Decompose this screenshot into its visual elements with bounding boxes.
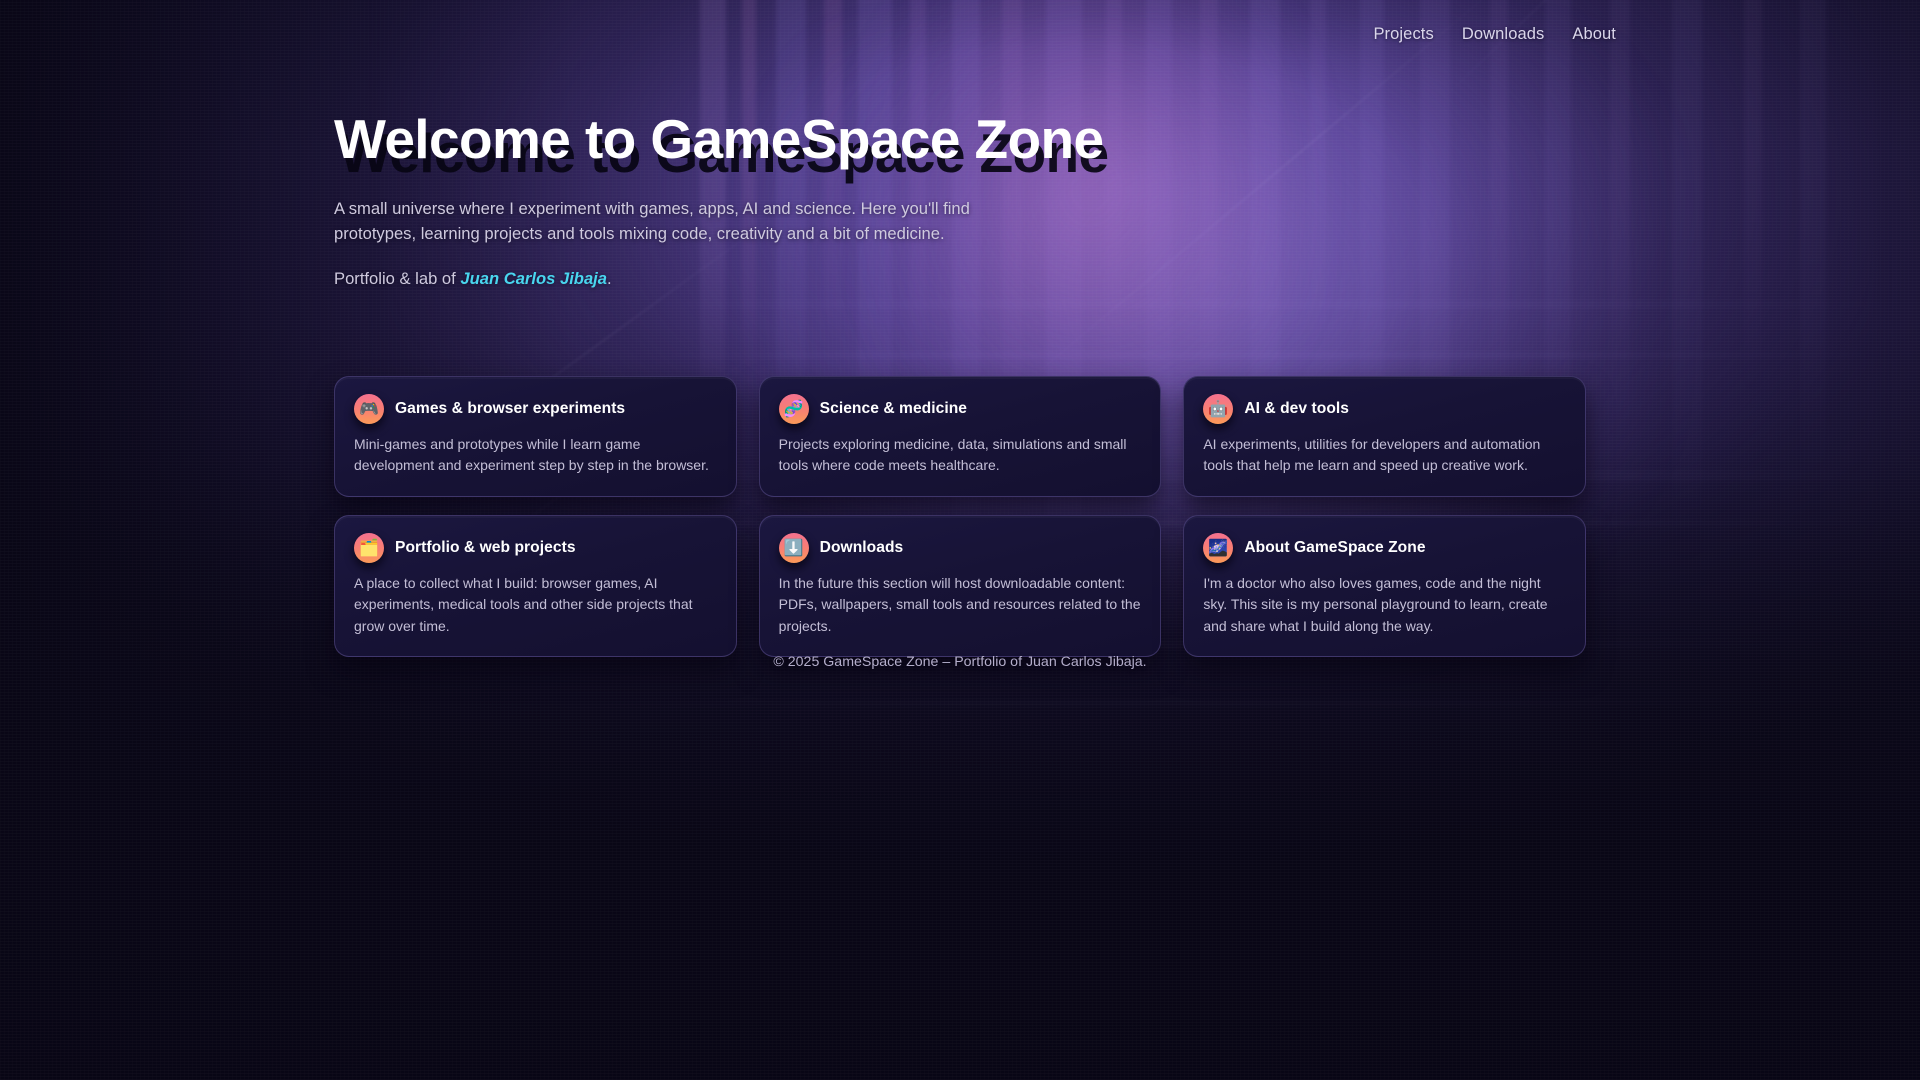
- footer-copyright: © 2025 GameSpace Zone – Portfolio of Jua…: [773, 654, 1146, 670]
- card-title: About GameSpace Zone: [1244, 539, 1425, 557]
- card-description: A place to collect what I build: browser…: [354, 573, 717, 637]
- card-index-dividers-icon: 🗂️: [354, 533, 384, 563]
- card-header: 🎮Games & browser experiments: [354, 394, 717, 424]
- hero-author-line: Portfolio & lab of Juan Carlos Jibaja.: [334, 267, 1114, 292]
- card-title: Downloads: [820, 539, 904, 557]
- hero-author-prefix: Portfolio & lab of: [334, 269, 460, 288]
- card-title: AI & dev tools: [1244, 400, 1349, 418]
- robot-icon: 🤖: [1203, 394, 1233, 424]
- card-header: 🌌About GameSpace Zone: [1203, 533, 1566, 563]
- card-header: 🗂️Portfolio & web projects: [354, 533, 717, 563]
- nav-link-about[interactable]: About: [1558, 21, 1616, 48]
- card-title: Games & browser experiments: [395, 400, 625, 418]
- feature-card[interactable]: 🤖AI & dev toolsAI experiments, utilities…: [1183, 376, 1586, 497]
- hero-author-suffix: .: [607, 269, 612, 288]
- card-description: In the future this section will host dow…: [779, 573, 1142, 637]
- milky-way-icon: 🌌: [1203, 533, 1233, 563]
- nav-link-downloads[interactable]: Downloads: [1448, 21, 1559, 48]
- feature-card[interactable]: 🗂️Portfolio & web projectsA place to col…: [334, 515, 737, 657]
- page-root: ProjectsDownloadsAbout Welcome to GameSp…: [0, 0, 1920, 1080]
- nav-link-projects[interactable]: Projects: [1359, 21, 1447, 48]
- card-title: Portfolio & web projects: [395, 539, 576, 557]
- feature-card[interactable]: 🎮Games & browser experimentsMini-games a…: [334, 376, 737, 497]
- dna-icon: 🧬: [779, 394, 809, 424]
- hero-section: Welcome to GameSpace Zone A small univer…: [334, 110, 1114, 292]
- card-title: Science & medicine: [820, 400, 967, 418]
- hero-subtitle: A small universe where I experiment with…: [334, 196, 974, 246]
- page-title: Welcome to GameSpace Zone: [334, 110, 1114, 170]
- feature-card[interactable]: 🌌About GameSpace ZoneI'm a doctor who al…: [1183, 515, 1586, 657]
- feature-card[interactable]: ⬇️DownloadsIn the future this section wi…: [759, 515, 1162, 657]
- card-description: Projects exploring medicine, data, simul…: [779, 434, 1142, 477]
- card-header: 🤖AI & dev tools: [1203, 394, 1566, 424]
- card-description: AI experiments, utilities for developers…: [1203, 434, 1566, 477]
- game-controller-icon: 🎮: [354, 394, 384, 424]
- feature-card-grid: 🎮Games & browser experimentsMini-games a…: [334, 376, 1586, 657]
- content-layer: ProjectsDownloadsAbout Welcome to GameSp…: [0, 0, 1920, 1080]
- card-header: ⬇️Downloads: [779, 533, 1142, 563]
- card-description: Mini-games and prototypes while I learn …: [354, 434, 717, 477]
- card-header: 🧬Science & medicine: [779, 394, 1142, 424]
- author-link[interactable]: Juan Carlos Jibaja: [460, 269, 607, 288]
- card-description: I'm a doctor who also loves games, code …: [1203, 573, 1566, 637]
- download-arrow-icon: ⬇️: [779, 533, 809, 563]
- page-footer: © 2025 GameSpace Zone – Portfolio of Jua…: [0, 654, 1920, 670]
- feature-card[interactable]: 🧬Science & medicineProjects exploring me…: [759, 376, 1162, 497]
- top-navigation: ProjectsDownloadsAbout: [1359, 21, 1920, 48]
